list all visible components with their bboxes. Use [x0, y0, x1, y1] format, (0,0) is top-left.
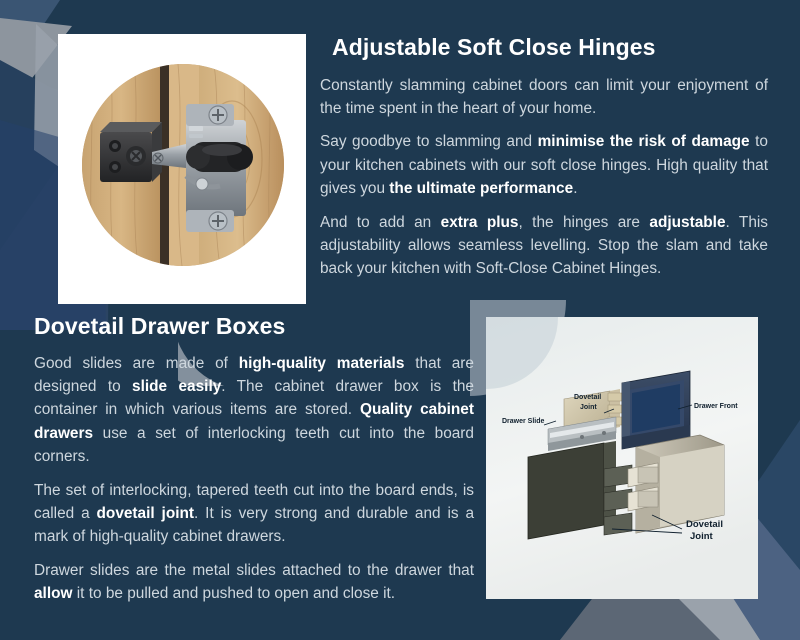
paragraph: The set of interlocking, tapered teeth c…: [34, 479, 474, 549]
cabinet-hinge-photo: [58, 34, 306, 304]
emphasis-text: slide easily: [132, 378, 221, 395]
infographic-canvas: Adjustable Soft Close Hinges Constantly …: [0, 0, 800, 640]
dovetail-section-title: Dovetail Drawer Boxes: [34, 313, 474, 341]
emphasis-text: dovetail joint: [97, 505, 195, 522]
body-text: use a set of interlocking teeth cut into…: [34, 425, 474, 465]
hinge-illustration: [82, 64, 284, 266]
body-text: Constantly slamming cabinet doors can li…: [320, 77, 768, 117]
body-text: .: [573, 180, 577, 197]
paragraph: Constantly slamming cabinet doors can li…: [320, 74, 768, 121]
label-dovetail-joint-1: Dovetail: [686, 519, 723, 530]
body-text: Drawer slides are the metal slides attac…: [34, 562, 474, 579]
paragraph: And to add an extra plus, the hinges are…: [320, 211, 768, 281]
dovetail-paragraphs: Good slides are made of high-quality mat…: [34, 352, 474, 606]
hinges-paragraphs: Constantly slamming cabinet doors can li…: [320, 74, 768, 281]
body-text: And to add an: [320, 214, 441, 231]
hinge-photo-circle: [82, 64, 284, 266]
body-text: Say goodbye to slamming and: [320, 133, 538, 150]
emphasis-text: allow: [34, 585, 72, 602]
emphasis-text: high-quality materials: [239, 355, 405, 372]
label-dovetail-joint-small-2: Joint: [580, 404, 597, 411]
body-text: , the hinges are: [518, 214, 649, 231]
body-text: it to be pulled and pushed to open and c…: [72, 585, 395, 602]
paragraph: Drawer slides are the metal slides attac…: [34, 559, 474, 606]
hinges-section-title: Adjustable Soft Close Hinges: [332, 34, 768, 62]
label-drawer-front: Drawer Front: [694, 403, 738, 410]
paragraph: Say goodbye to slamming and minimise the…: [320, 130, 768, 200]
dovetail-text-block: Dovetail Drawer Boxes Good slides are ma…: [34, 313, 474, 606]
dovetail-joint-diagram: Drawer Slide Dovetail Joint Drawer Front…: [486, 317, 758, 599]
paragraph: Good slides are made of high-quality mat…: [34, 352, 474, 469]
emphasis-text: adjustable: [649, 214, 725, 231]
label-drawer-slide: Drawer Slide: [502, 418, 545, 425]
hinges-text-block: Adjustable Soft Close Hinges Constantly …: [320, 34, 768, 281]
emphasis-text: minimise the risk of damage: [538, 133, 750, 150]
dovetail-diagram-illustration: Drawer Slide Dovetail Joint Drawer Front…: [486, 317, 758, 599]
emphasis-text: the ultimate performance: [389, 180, 573, 197]
emphasis-text: extra plus: [441, 214, 519, 231]
body-text: Good slides are made of: [34, 355, 239, 372]
label-dovetail-joint-2: Joint: [690, 531, 714, 542]
label-dovetail-joint-small-1: Dovetail: [574, 394, 601, 401]
